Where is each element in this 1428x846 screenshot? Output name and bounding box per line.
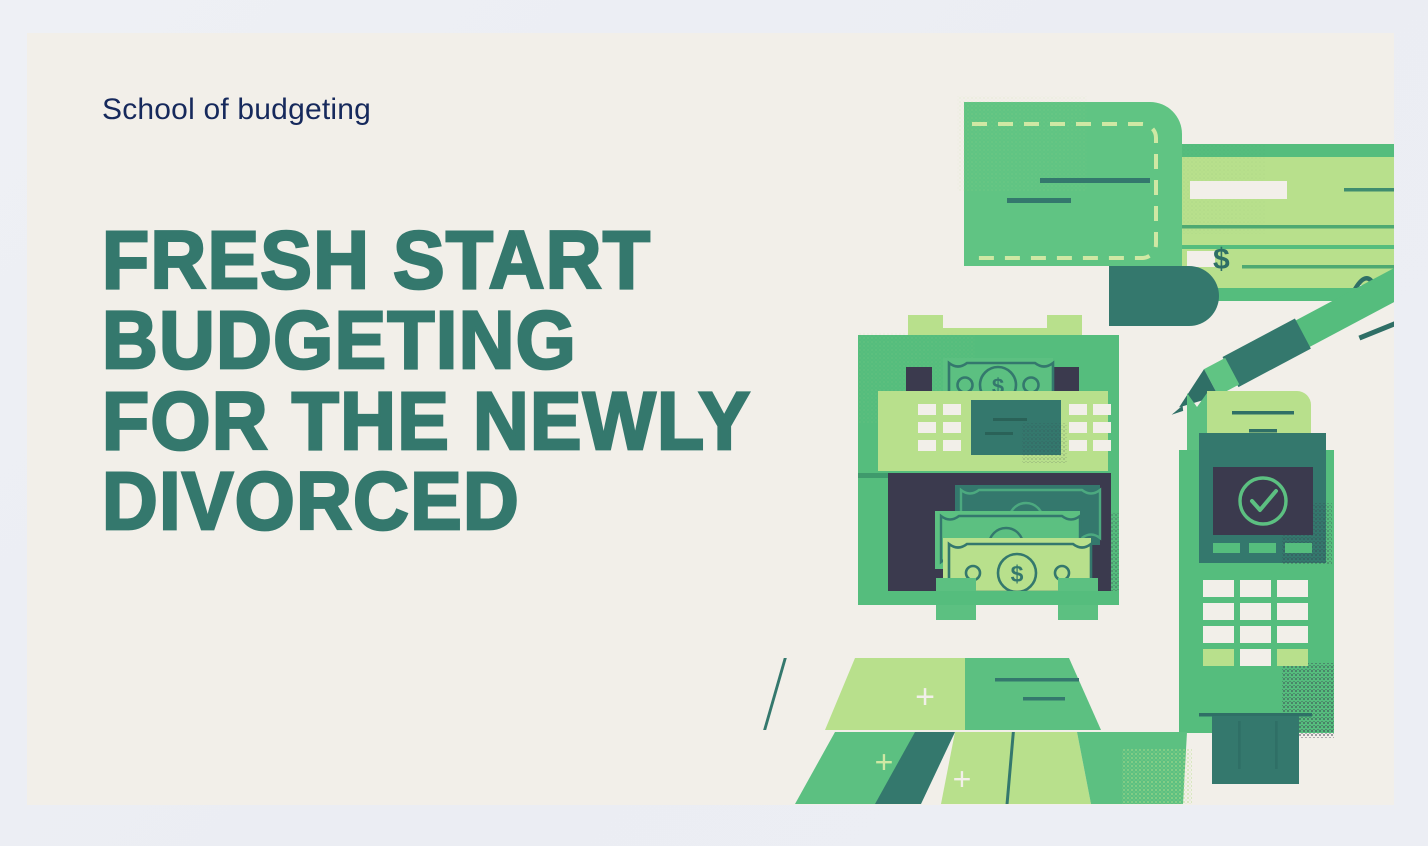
wallet-stitching	[972, 124, 1156, 258]
bar-top-left-face	[825, 658, 965, 730]
bar-bottom-shadow	[875, 732, 955, 804]
page-title: FRESH START BUDGETING FOR THE NEWLY DIVO…	[102, 221, 816, 542]
terminal-body	[1179, 450, 1334, 733]
counter-feed-note: $	[943, 358, 1053, 413]
bar-plus-top: +	[915, 678, 935, 716]
signature-mark	[1354, 275, 1394, 291]
pen-illustration	[1159, 240, 1394, 446]
bar-top-right-face	[965, 658, 1101, 730]
counter-output-bay	[888, 473, 1111, 593]
eyebrow-label: School of budgeting	[102, 95, 862, 125]
counter-body	[858, 335, 1119, 605]
bar-plus-bottom-mid: +	[953, 761, 972, 797]
bar-plus-bottom-left: +	[875, 744, 894, 780]
terminal-keypad	[1203, 580, 1308, 666]
money-counter-illustration: $	[855, 315, 1127, 620]
headline-line-4: DIVORCED	[102, 462, 816, 542]
terminal-softkeys	[1213, 543, 1312, 553]
gold-bars-illustration: + + +	[763, 658, 1192, 804]
text-block: School of budgeting FRESH START BUDGETIN…	[102, 95, 862, 542]
terminal-receipt: $	[1187, 391, 1311, 462]
terminal-card-slot	[1212, 716, 1299, 784]
counter-panel	[878, 391, 1108, 471]
counter-output-notes: $	[935, 485, 1100, 620]
cheque-illustration: $	[1125, 144, 1394, 307]
approved-circle-icon	[1240, 478, 1286, 524]
svg-text:$: $	[1011, 561, 1024, 587]
headline-line-1: FRESH START	[102, 221, 816, 301]
receipt-dollar-symbol: $	[1234, 431, 1250, 462]
headline-line-3: FOR THE NEWLY	[102, 382, 816, 462]
slide-card: $	[27, 33, 1394, 805]
svg-text:$: $	[992, 374, 1004, 399]
headline-line-2: BUDGETING	[102, 301, 816, 381]
wallet-flap	[1109, 266, 1219, 326]
counter-keys-left	[918, 404, 961, 451]
bar-bottom-right	[1077, 732, 1187, 804]
checkmark-icon	[1252, 491, 1276, 510]
counter-display	[971, 400, 1061, 455]
card-terminal-illustration: $	[1177, 391, 1337, 784]
wallet-illustration	[957, 96, 1219, 326]
terminal-screen	[1213, 467, 1313, 535]
counter-keys-right	[1069, 404, 1111, 451]
terminal-head	[1199, 433, 1326, 563]
bar-bottom-mid	[941, 732, 1091, 804]
bar-bottom-left	[795, 732, 955, 804]
cheque-dollar-symbol: $	[1213, 243, 1230, 276]
wallet-body	[964, 102, 1182, 266]
